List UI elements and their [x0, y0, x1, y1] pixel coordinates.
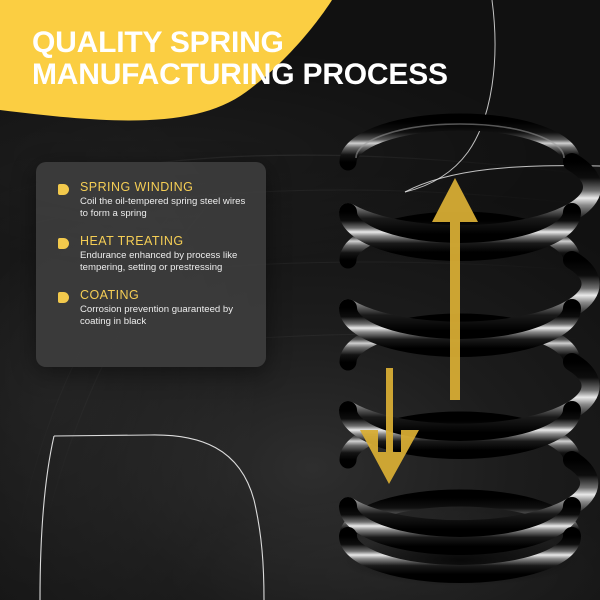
list-item[interactable]: COATING Corrosion prevention guaranteed … [58, 288, 254, 327]
process-steps-list: SPRING WINDING Coil the oil-tempered spr… [58, 180, 254, 328]
infographic-poster: QUALITY SPRING MANUFACTURING PROCESS SPR… [0, 0, 600, 600]
step-title: HEAT TREATING [80, 234, 254, 249]
title-line-2: MANUFACTURING PROCESS [32, 59, 552, 91]
step-title: COATING [80, 288, 254, 303]
step-description: Corrosion prevention guaranteed by coati… [80, 304, 254, 327]
list-item[interactable]: HEAT TREATING Endurance enhanced by proc… [58, 234, 254, 273]
title-line-1: QUALITY SPRING [32, 27, 552, 59]
list-item[interactable]: SPRING WINDING Coil the oil-tempered spr… [58, 180, 254, 219]
bullet-marker-icon [58, 238, 69, 249]
page-title: QUALITY SPRING MANUFACTURING PROCESS [32, 27, 552, 91]
bullet-marker-icon [58, 184, 69, 195]
step-title: SPRING WINDING [80, 180, 254, 195]
coil-spring-graphic [320, 100, 600, 590]
bullet-marker-icon [58, 292, 69, 303]
step-description: Endurance enhanced by process like tempe… [80, 250, 254, 273]
process-steps-card: SPRING WINDING Coil the oil-tempered spr… [36, 162, 266, 367]
step-description: Coil the oil-tempered spring steel wires… [80, 196, 254, 219]
